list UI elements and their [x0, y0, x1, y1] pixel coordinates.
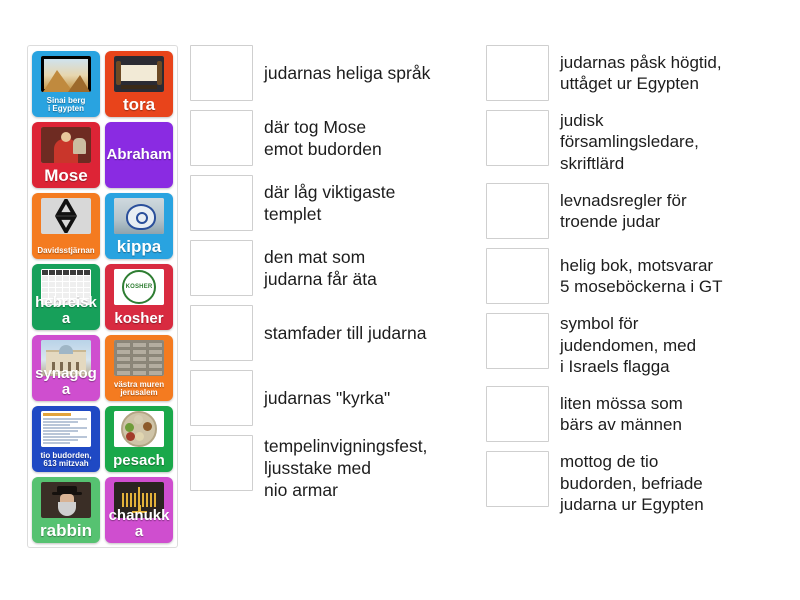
- tile-label: pesach: [105, 453, 173, 472]
- tile-label: kosher: [105, 311, 173, 330]
- tile-kippa[interactable]: kippa: [105, 193, 173, 259]
- mitzvah-list-slide: [41, 411, 91, 447]
- drop-target[interactable]: [486, 110, 549, 166]
- tile-label: tio budorden, 613 mitzvah: [32, 452, 100, 472]
- answer-text: mottog de tio budorden, befriade judarna…: [549, 451, 786, 515]
- answer-text: helig bok, motsvarar 5 moseböckerna i GT: [549, 255, 786, 298]
- tile-image: [41, 198, 91, 234]
- kosher-certified-seal: KOSHER: [114, 269, 164, 305]
- moses-tablets-photo: [41, 127, 91, 163]
- answer-text: judarnas heliga språk: [253, 62, 490, 84]
- drop-target[interactable]: [190, 110, 253, 166]
- answer-row: stamfader till judarna: [190, 305, 490, 361]
- answer-text: där låg viktigaste templet: [253, 181, 490, 225]
- tile-label: Davidsstjärnan: [32, 247, 100, 259]
- kippah-photo: [114, 198, 164, 234]
- drop-target[interactable]: [486, 313, 549, 369]
- tile-rabbin[interactable]: rabbin: [32, 477, 100, 543]
- tile-image: [114, 56, 164, 92]
- tile-label: synagoga: [32, 366, 100, 401]
- drop-target[interactable]: [190, 240, 253, 296]
- tile-image: [41, 411, 91, 447]
- answer-text: levnadsregler för troende judar: [549, 190, 786, 233]
- tile-pesach[interactable]: pesach: [105, 406, 173, 472]
- answer-row: symbol för judendomen, med i Israels fla…: [486, 313, 786, 377]
- tile-label: Sinai berg i Egypten: [32, 97, 100, 117]
- sinai-mountain-photo: [41, 56, 91, 92]
- drop-target[interactable]: [486, 45, 549, 101]
- tile-västra-muren[interactable]: västra muren jerusalem: [105, 335, 173, 401]
- tile-label: västra muren jerusalem: [105, 381, 173, 401]
- answer-row: judisk församlingsledare, skriftlärd: [486, 110, 786, 174]
- tile-image: [41, 482, 91, 518]
- answer-row: där låg viktigaste templet: [190, 175, 490, 231]
- answer-row: levnadsregler för troende judar: [486, 183, 786, 239]
- tile-davidsstjärnan[interactable]: Davidsstjärnan: [32, 193, 100, 259]
- answer-row: liten mössa som bärs av männen: [486, 386, 786, 442]
- tile-image: [41, 127, 91, 163]
- answer-row: helig bok, motsvarar 5 moseböckerna i GT: [486, 248, 786, 304]
- answer-text: där tog Mose emot budorden: [253, 116, 490, 160]
- drop-target[interactable]: [190, 45, 253, 101]
- answer-text: stamfader till judarna: [253, 322, 490, 344]
- tile-label: kippa: [105, 238, 173, 259]
- tile-hebreiska[interactable]: hebreiska: [32, 264, 100, 330]
- tile-label: Mose: [32, 167, 100, 188]
- drop-target[interactable]: [190, 305, 253, 361]
- tile-synagoga[interactable]: synagoga: [32, 335, 100, 401]
- tile-image: KOSHER: [114, 269, 164, 305]
- tile-kosher[interactable]: KOSHERkosher: [105, 264, 173, 330]
- answer-text: judisk församlingsledare, skriftlärd: [549, 110, 786, 174]
- answer-text: tempelinvigningsfest, ljusstake med nio …: [253, 435, 490, 501]
- drop-target[interactable]: [486, 451, 549, 507]
- torah-scroll-photo: [114, 56, 164, 92]
- answer-row: mottog de tio budorden, befriade judarna…: [486, 451, 786, 515]
- answer-row: judarnas "kyrka": [190, 370, 490, 426]
- answer-column-middle: judarnas heliga språkdär tog Mose emot b…: [190, 45, 490, 510]
- tile-label: rabbin: [32, 522, 100, 543]
- tile-chanukka[interactable]: chanukka: [105, 477, 173, 543]
- seder-plate-photo: [114, 411, 164, 447]
- western-wall-photo: [114, 340, 164, 376]
- tile-sinai-berg[interactable]: Sinai berg i Egypten: [32, 51, 100, 117]
- tile-label: tora: [105, 96, 173, 117]
- tile-label: chanukka: [105, 508, 173, 543]
- rabbi-portrait-photo: [41, 482, 91, 518]
- tile-tora[interactable]: tora: [105, 51, 173, 117]
- tile-image: [114, 411, 164, 447]
- answer-row: tempelinvigningsfest, ljusstake med nio …: [190, 435, 490, 501]
- tile-image: [114, 340, 164, 376]
- answer-row: judarnas heliga språk: [190, 45, 490, 101]
- answer-text: den mat som judarna får äta: [253, 246, 490, 290]
- tile-tio-budorden-[interactable]: tio budorden, 613 mitzvah: [32, 406, 100, 472]
- tile-label: Abraham: [105, 147, 173, 162]
- tile-abraham[interactable]: Abraham: [105, 122, 173, 188]
- answer-text: judarnas "kyrka": [253, 387, 490, 409]
- drop-target[interactable]: [486, 183, 549, 239]
- drop-target[interactable]: [486, 248, 549, 304]
- tile-image: [41, 56, 91, 92]
- answer-row: judarnas påsk högtid, uttåget ur Egypten: [486, 45, 786, 101]
- answer-text: liten mössa som bärs av männen: [549, 393, 786, 436]
- tile-image: [114, 198, 164, 234]
- drop-target[interactable]: [190, 435, 253, 491]
- answer-row: den mat som judarna får äta: [190, 240, 490, 296]
- drop-target[interactable]: [190, 370, 253, 426]
- activity-stage: Sinai berg i EgyptentoraMoseAbrahamDavid…: [0, 0, 800, 600]
- answer-text: symbol för judendomen, med i Israels fla…: [549, 313, 786, 377]
- answer-row: där tog Mose emot budorden: [190, 110, 490, 166]
- tile-label: hebreiska: [32, 295, 100, 330]
- drop-target[interactable]: [190, 175, 253, 231]
- tile-panel: Sinai berg i EgyptentoraMoseAbrahamDavid…: [27, 45, 178, 548]
- answer-column-right: judarnas påsk högtid, uttåget ur Egypten…: [486, 45, 786, 525]
- drop-target[interactable]: [486, 386, 549, 442]
- tile-mose[interactable]: Mose: [32, 122, 100, 188]
- star-of-david-icon: [41, 198, 91, 234]
- answer-text: judarnas påsk högtid, uttåget ur Egypten: [549, 52, 786, 95]
